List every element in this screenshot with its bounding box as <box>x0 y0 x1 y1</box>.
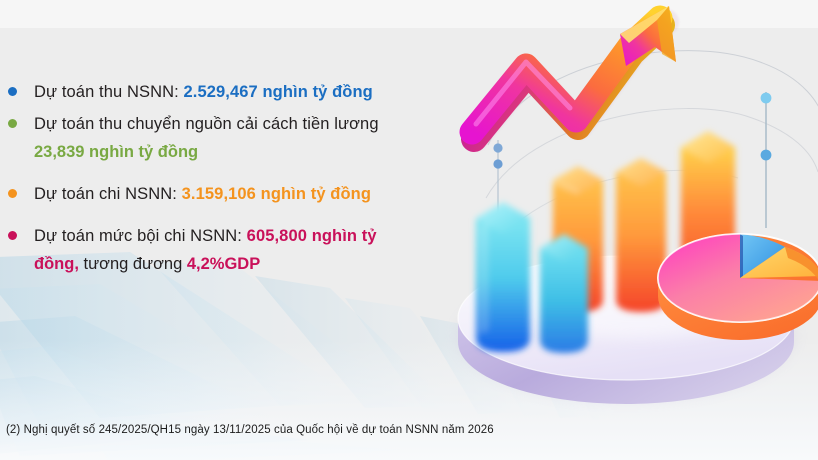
bullet-dot-icon <box>8 87 17 96</box>
bar-2 <box>540 234 588 353</box>
bullet-text-2: Dự toán thu chuyển nguồn cải cách tiền l… <box>34 110 379 138</box>
bullet-text-1: Dự toán thu NSNN: 2.529,467 nghìn tỷ đồn… <box>34 78 373 106</box>
marker-dot <box>761 93 772 104</box>
pie-chart <box>658 234 818 340</box>
bullet-item-1: Dự toán thu NSNN: 2.529,467 nghìn tỷ đồn… <box>8 78 448 106</box>
3d-chart-illustration <box>430 0 818 420</box>
marker-dot <box>761 150 772 161</box>
bullet-continuation-2: 23,839 nghìn tỷ đồng <box>34 138 448 166</box>
bullet-item-3: Dự toán chi NSNN: 3.159,106 nghìn tỷ đồn… <box>8 180 448 208</box>
marker-dot <box>493 143 502 152</box>
bullet-dot-icon <box>8 189 17 198</box>
bullet-continuation-4: đồng, tương đương 4,2%GDP <box>34 250 448 278</box>
bullet-item-2: Dự toán thu chuyển nguồn cải cách tiền l… <box>8 110 448 138</box>
bar-1 <box>476 202 530 352</box>
bullet-item-4: Dự toán mức bội chi NSNN: 605,800 nghìn … <box>8 222 448 250</box>
bullet-dot-icon <box>8 231 17 240</box>
bullet-dot-icon <box>8 119 17 128</box>
bullet-list: Dự toán thu NSNN: 2.529,467 nghìn tỷ đồn… <box>8 78 448 278</box>
infographic-canvas: Dự toán thu NSNN: 2.529,467 nghìn tỷ đồn… <box>0 0 818 460</box>
marker-dot <box>493 159 502 168</box>
bullet-text-4: Dự toán mức bội chi NSNN: 605,800 nghìn … <box>34 222 377 250</box>
bullet-text-3: Dự toán chi NSNN: 3.159,106 nghìn tỷ đồn… <box>34 180 371 208</box>
footnote: (2) Nghị quyết số 245/2025/QH15 ngày 13/… <box>6 424 494 436</box>
